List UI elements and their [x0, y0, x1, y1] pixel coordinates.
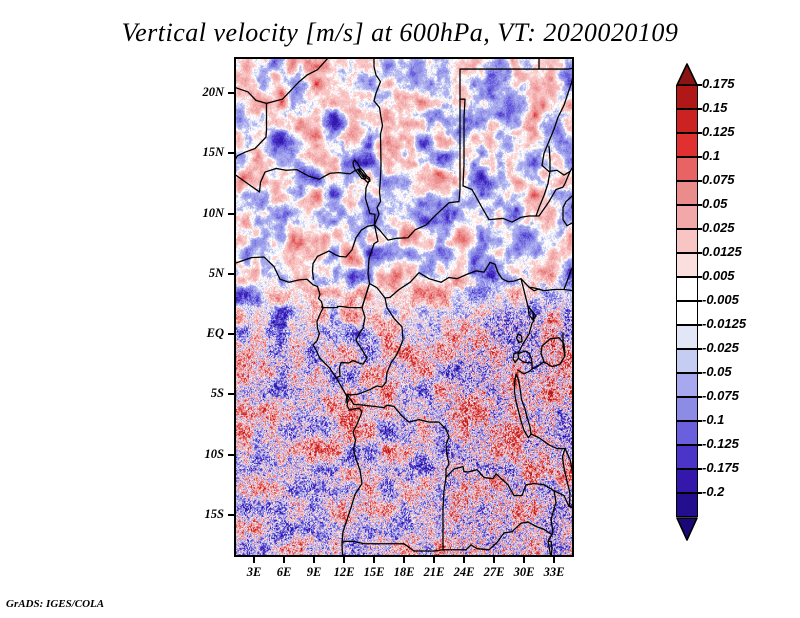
- colorbar-label: 0.175: [702, 76, 735, 91]
- grads-plot-canvas: Vertical velocity [m/s] at 600hPa, VT: 2…: [0, 0, 800, 618]
- y-axis-tick: [228, 273, 234, 275]
- y-axis-label: 10S: [176, 447, 224, 462]
- y-axis-label: 20N: [176, 85, 224, 100]
- colorbar-segment: [676, 205, 698, 229]
- colorbar-segment: [676, 277, 698, 301]
- colorbar-segment: [676, 109, 698, 133]
- colorbar-label: 0.0125: [702, 244, 742, 259]
- x-axis-label: 33E: [534, 565, 574, 580]
- y-axis-label: 15N: [176, 145, 224, 160]
- colorbar-segment: [676, 445, 698, 469]
- colorbar-label: -0.2: [702, 484, 724, 499]
- footer-credit: GrADS: IGES/COLA: [6, 598, 104, 610]
- page-title: Vertical velocity [m/s] at 600hPa, VT: 2…: [0, 18, 800, 48]
- colorbar-segment: [676, 253, 698, 277]
- colorbar-segment: [676, 85, 698, 109]
- y-axis-tick: [228, 393, 234, 395]
- colorbar-label: -0.0125: [702, 316, 746, 331]
- colorbar-label: -0.075: [702, 388, 739, 403]
- colorbar-label: -0.005: [702, 292, 739, 307]
- colorbar-label: 0.075: [702, 172, 735, 187]
- colorbar-segment: [676, 349, 698, 373]
- colorbar-arrow-min: [676, 517, 698, 541]
- x-axis-tick: [433, 557, 435, 563]
- y-axis-tick: [228, 514, 234, 516]
- x-axis-tick: [253, 557, 255, 563]
- y-axis-tick: [228, 333, 234, 335]
- colorbar-segment: [676, 421, 698, 445]
- colorbar-label: 0.1: [702, 148, 720, 163]
- colorbar-segment: [676, 325, 698, 349]
- y-axis-label: 15S: [176, 507, 224, 522]
- colorbar-label: 0.005: [702, 268, 735, 283]
- colorbar-segment: [676, 133, 698, 157]
- map-plot-area: [234, 57, 574, 557]
- x-axis-tick: [493, 557, 495, 563]
- colorbar-segment: [676, 373, 698, 397]
- colorbar-label: 0.15: [702, 100, 727, 115]
- x-axis-tick: [373, 557, 375, 563]
- y-axis-tick: [228, 213, 234, 215]
- x-axis-tick: [343, 557, 345, 563]
- colorbar-arrow-max: [676, 63, 698, 85]
- x-axis-tick: [553, 557, 555, 563]
- colorbar-label: -0.125: [702, 436, 739, 451]
- x-axis-tick: [523, 557, 525, 563]
- colorbar-label: 0.025: [702, 220, 735, 235]
- colorbar-label: -0.1: [702, 412, 724, 427]
- colorbar-segment: [676, 157, 698, 181]
- colorbar: [676, 63, 698, 549]
- y-axis-label: 5N: [176, 266, 224, 281]
- y-axis-tick: [228, 92, 234, 94]
- colorbar-label: -0.05: [702, 364, 732, 379]
- colorbar-segment: [676, 301, 698, 325]
- y-axis-tick: [228, 454, 234, 456]
- x-axis-tick: [283, 557, 285, 563]
- colorbar-label: 0.05: [702, 196, 727, 211]
- x-axis-tick: [403, 557, 405, 563]
- colorbar-label: -0.175: [702, 460, 739, 475]
- colorbar-segment: [676, 493, 698, 517]
- vertical-velocity-heatmap: [234, 57, 574, 557]
- colorbar-segment: [676, 469, 698, 493]
- y-axis-label: 10N: [176, 206, 224, 221]
- colorbar-segment: [676, 181, 698, 205]
- colorbar-segment: [676, 397, 698, 421]
- y-axis-tick: [228, 152, 234, 154]
- colorbar-label: -0.025: [702, 340, 739, 355]
- x-axis-tick: [463, 557, 465, 563]
- colorbar-segment: [676, 229, 698, 253]
- x-axis-tick: [313, 557, 315, 563]
- y-axis-label: EQ: [176, 326, 224, 341]
- y-axis-label: 5S: [176, 386, 224, 401]
- colorbar-label: 0.125: [702, 124, 735, 139]
